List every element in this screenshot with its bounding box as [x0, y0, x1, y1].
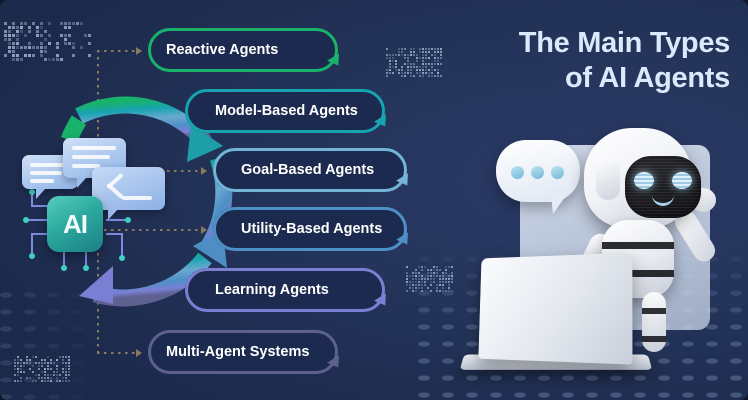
top-left-pixel-dots [4, 22, 96, 60]
laptop-icon [460, 255, 650, 385]
agent-type-pill[interactable]: Model-Based Agents [185, 89, 385, 133]
ai-chip-icon: AI [47, 196, 103, 252]
agent-type-pill[interactable]: Learning Agents [185, 268, 385, 312]
agent-type-pill[interactable]: Utility-Based Agents [213, 207, 407, 251]
ai-chip-label: AI [63, 209, 87, 240]
agent-type-label: Learning Agents [215, 282, 329, 298]
agent-type-label: Model-Based Agents [215, 103, 358, 119]
robot-eye-right [672, 172, 692, 189]
title-line-2: of AI Agents [465, 61, 730, 96]
laptop-lid [478, 253, 632, 365]
agent-type-pill[interactable]: Multi-Agent Systems [148, 330, 338, 374]
agent-type-pill[interactable]: Reactive Agents [148, 28, 338, 72]
bottom-left-chevron-dots [14, 356, 72, 382]
robot-ear-left [596, 158, 620, 200]
robot-eye-left [634, 172, 654, 189]
agent-type-label: Goal-Based Agents [241, 162, 374, 178]
page-title: The Main Types of AI Agents [465, 26, 730, 97]
robot-smile [652, 192, 674, 206]
infographic-canvas: AI Reactive AgentsModel-Based AgentsGoal… [0, 0, 748, 400]
code-bubble-icon [92, 167, 165, 210]
agent-type-label: Reactive Agents [166, 42, 278, 58]
agent-type-label: Multi-Agent Systems [166, 344, 309, 360]
robot-laptop-scene [440, 110, 748, 400]
title-line-1: The Main Types [519, 27, 730, 59]
robot-face-visor [625, 156, 701, 218]
robot-head [584, 128, 692, 228]
agent-type-label: Utility-Based Agents [241, 221, 382, 237]
agent-type-pill[interactable]: Goal-Based Agents [213, 148, 407, 192]
top-right-chevron-dots [386, 48, 444, 78]
